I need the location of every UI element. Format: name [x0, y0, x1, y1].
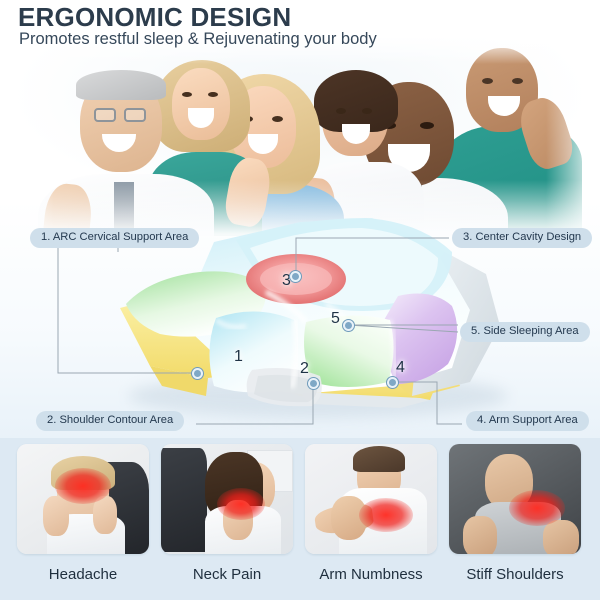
callout-5-marker-dot[interactable] — [343, 320, 354, 331]
symptoms-section: Headache Neck Pain — [0, 438, 600, 600]
callout-2-number: 2 — [300, 360, 309, 378]
pain-indicator — [509, 490, 565, 526]
callout-2-marker-dot[interactable] — [308, 378, 319, 389]
callout-5-number: 5 — [331, 310, 340, 328]
symptom-caption-neck-pain: Neck Pain — [161, 566, 293, 583]
callout-2-label[interactable]: 2. Shoulder Contour Area — [36, 411, 184, 431]
symptom-caption-arm-numbness: Arm Numbness — [305, 566, 437, 583]
callout-4-label[interactable]: 4. Arm Support Area — [466, 411, 589, 431]
pain-indicator — [359, 498, 413, 532]
callout-3-label[interactable]: 3. Center Cavity Design — [452, 228, 592, 248]
symptom-card-headache[interactable] — [17, 444, 149, 554]
symptom-caption-headache: Headache — [17, 566, 149, 583]
page-title: ERGONOMIC DESIGN — [18, 2, 291, 33]
pain-indicator — [55, 468, 111, 504]
callout-1-marker-dot[interactable] — [192, 368, 203, 379]
callout-3-marker-dot[interactable] — [290, 271, 301, 282]
symptom-caption-stiff-shoulders: Stiff Shoulders — [449, 566, 581, 583]
pain-indicator — [217, 488, 265, 520]
infographic-page: ERGONOMIC DESIGN Promotes restful sleep … — [0, 0, 600, 600]
header: ERGONOMIC DESIGN Promotes restful sleep … — [0, 0, 600, 48]
symptom-card-arm-numbness[interactable] — [305, 444, 437, 554]
callout-4-number: 4 — [396, 359, 405, 377]
symptom-cards: Headache Neck Pain — [0, 444, 600, 560]
symptom-card-neck-pain[interactable] — [161, 444, 293, 554]
callout-1-label[interactable]: 1. ARC Cervical Support Area — [30, 228, 199, 248]
page-subtitle: Promotes restful sleep & Rejuvenating yo… — [19, 30, 377, 49]
symptom-card-stiff-shoulders[interactable] — [449, 444, 581, 554]
callout-4-marker-dot[interactable] — [387, 377, 398, 388]
callout-1-number: 1 — [234, 348, 243, 366]
callout-5-label[interactable]: 5. Side Sleeping Area — [460, 322, 590, 342]
